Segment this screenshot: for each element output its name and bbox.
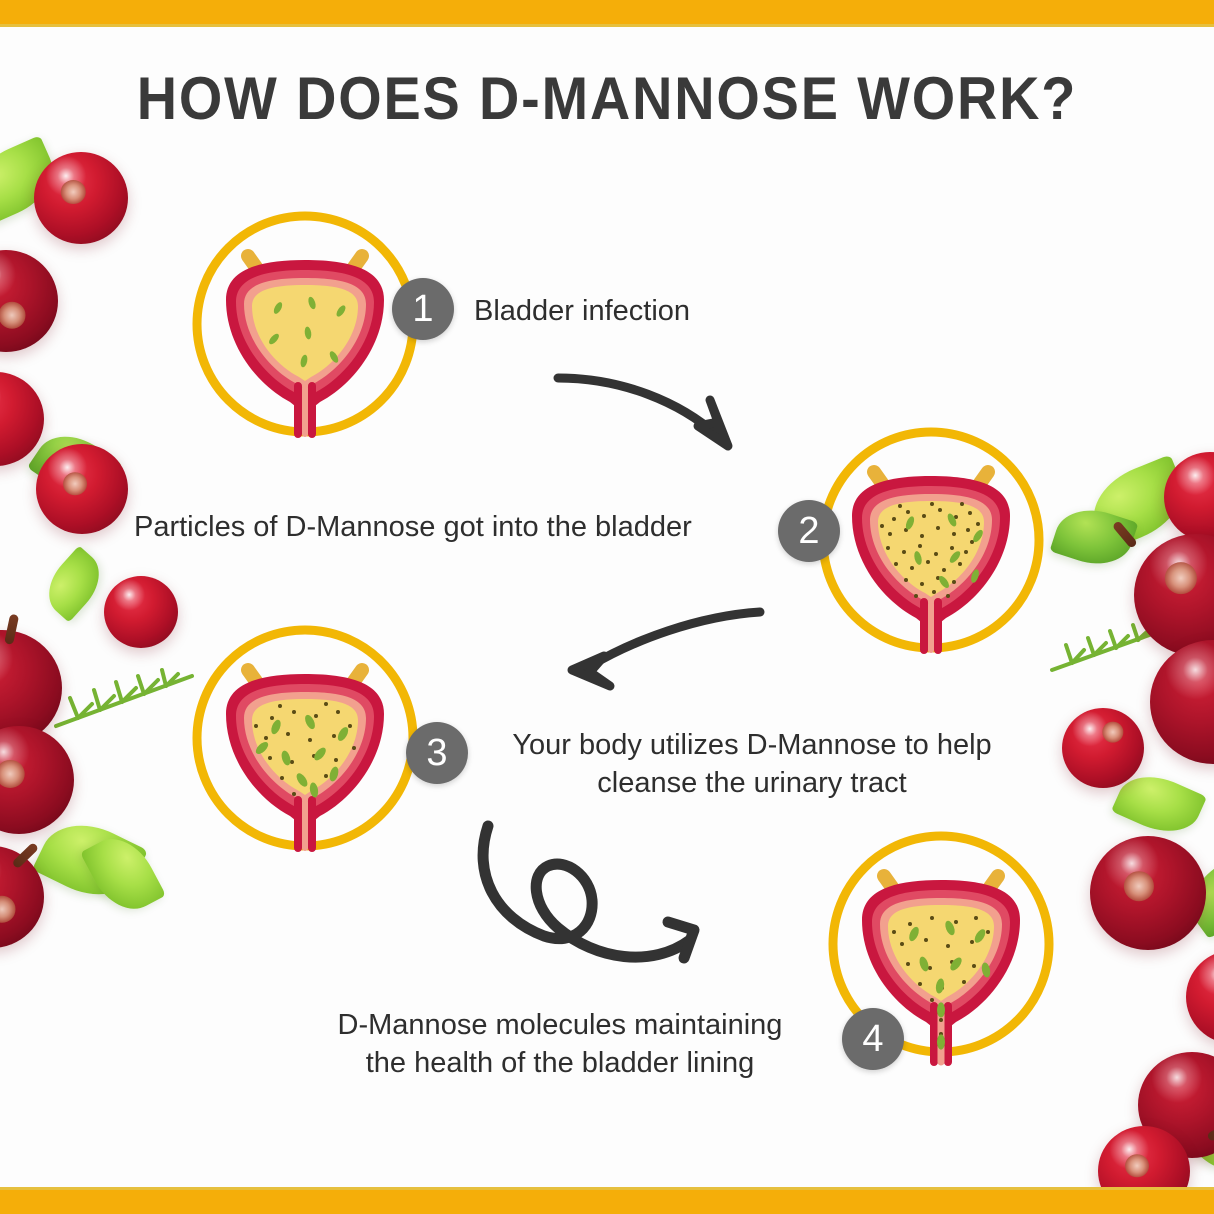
cranberry-icon: [104, 576, 178, 648]
leaf-icon: [36, 545, 112, 622]
cranberry-icon: [1090, 836, 1206, 950]
step-badge-number: 4: [862, 1018, 883, 1061]
top-bar-edge: [0, 24, 1214, 27]
sprig-icon: [50, 660, 200, 739]
sprig-svg: [50, 660, 200, 734]
cranberry-icon: [34, 152, 128, 244]
page-title: HOW DOES D-MANNOSE WORK?: [42, 64, 1171, 133]
step-caption: Your body utilizes D-Mannose to help cle…: [472, 726, 1032, 803]
arrow-svg-3: [466, 818, 726, 998]
bladder-svg-3: [186, 622, 424, 854]
berry-calyx-icon: [0, 302, 26, 329]
bladder-svg-1: [186, 208, 424, 440]
berry-calyx-icon: [0, 759, 24, 787]
cranberry-icon: [0, 726, 74, 834]
step-badge: 3: [406, 722, 468, 784]
berry-calyx-icon: [1102, 722, 1123, 743]
berry-calyx-icon: [1124, 871, 1154, 901]
step-badge: 2: [778, 500, 840, 562]
step-badge: 4: [842, 1008, 904, 1070]
berry-calyx-icon: [1125, 1154, 1149, 1177]
arrow-step1-to-step2: [552, 360, 762, 465]
step-caption: D-Mannose molecules maintaining the heal…: [284, 1006, 836, 1083]
arrow-svg-2: [548, 598, 768, 694]
berry-calyx-icon: [61, 181, 85, 205]
step-badge: 1: [392, 278, 454, 340]
bottom-accent-bar: [0, 1187, 1214, 1214]
arrow-step3-to-step4: [466, 818, 726, 1003]
cranberry-icon: [1186, 950, 1214, 1044]
berry-stem-icon: [1206, 1120, 1214, 1142]
bottom-bar-edge: [0, 1187, 1214, 1190]
step-badge-number: 1: [412, 288, 433, 331]
berry-calyx-icon: [1165, 562, 1197, 594]
cranberry-icon: [36, 444, 128, 534]
step-caption: Bladder infection: [474, 292, 804, 330]
bladder-infection-icon: [186, 208, 424, 445]
top-accent-bar: [0, 0, 1214, 27]
bladder-cleansing-icon: [186, 622, 424, 859]
arrow-svg-1: [552, 360, 762, 460]
cranberry-icon: [0, 250, 58, 352]
berry-stem-icon: [4, 614, 19, 645]
infographic-poster: HOW DOES D-MANNOSE WORK?: [0, 0, 1214, 1214]
step-caption: Particles of D-Mannose got into the blad…: [134, 508, 774, 546]
berry-calyx-icon: [0, 896, 16, 923]
cranberry-icon: [1062, 708, 1144, 788]
arrow-step2-to-step3: [548, 598, 768, 699]
step-badge-number: 3: [426, 732, 447, 775]
berry-calyx-icon: [63, 472, 87, 495]
bladder-svg-2: [812, 424, 1050, 656]
step-badge-number: 2: [798, 510, 819, 553]
bladder-with-particles-icon: [812, 424, 1050, 661]
